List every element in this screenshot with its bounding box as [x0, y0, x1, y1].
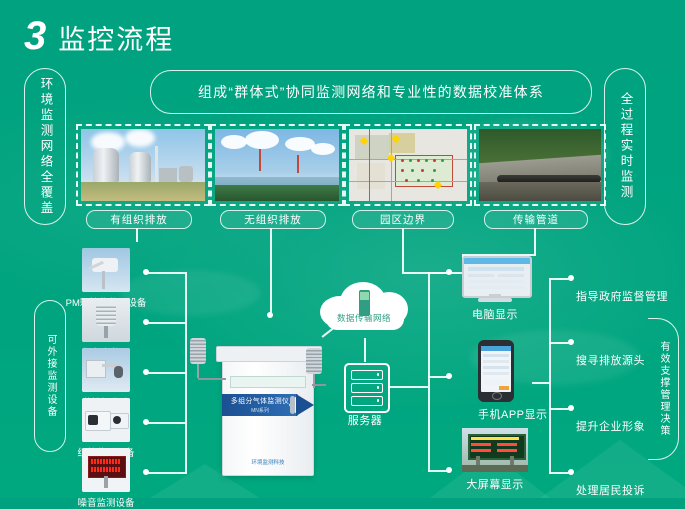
sensor-cable — [198, 378, 226, 380]
photo-cooling-towers — [81, 129, 205, 201]
connector-bus — [428, 272, 430, 472]
connector-node — [143, 269, 149, 275]
noise-monitor-icon — [82, 448, 130, 492]
pm-sensor-icon — [82, 248, 130, 292]
section-title: 监控流程 — [58, 18, 174, 57]
connector-line — [146, 422, 186, 424]
photo-pipeline — [479, 129, 601, 201]
connector-node — [446, 467, 452, 473]
label-realtime-monitoring: 全过程实时监测 — [604, 68, 646, 225]
connector-line — [402, 228, 404, 272]
cctv-camera-icon — [82, 348, 130, 392]
connector-node — [143, 369, 149, 375]
connector-line — [388, 386, 428, 388]
label-external-devices: 可外接监测设备 — [34, 300, 66, 452]
infographic-canvas: 3 监控流程 组成“群体式”协同监测网络和专业性的数据校准体系 环境监测网络全覆… — [0, 0, 685, 498]
connector-node — [568, 469, 574, 475]
label-decision-support-text: 有效支撑管理决策 — [657, 341, 669, 437]
connector-node — [568, 405, 574, 411]
headline-banner: 组成“群体式”协同监测网络和专业性的数据校准体系 — [150, 70, 592, 114]
weather-station-icon — [82, 298, 130, 342]
connector-line — [270, 228, 272, 314]
connector-line — [136, 228, 138, 242]
cloud-label: 数据传输网络 — [316, 312, 412, 324]
smartphone-icon — [478, 340, 514, 402]
connector-node — [143, 319, 149, 325]
connector-node — [568, 339, 574, 345]
connector-line — [146, 372, 186, 374]
connector-bus — [549, 278, 551, 474]
cabinet-title: 多组分气体监测仪 — [231, 396, 289, 406]
cabinet-sensor-left — [190, 338, 206, 378]
connector-node — [267, 312, 273, 318]
connector-line — [146, 472, 186, 474]
device-item-4[interactable]: 噪音监测设备 — [82, 448, 130, 492]
outcome-item-1: 搜寻排放源头 — [576, 352, 645, 368]
outcome-item-3: 处理居民投诉 — [576, 482, 645, 498]
outcome-item-0: 指导政府监督管理 — [576, 288, 668, 304]
sensor-cable — [312, 384, 326, 386]
device-item-1[interactable]: 气象参数仪 — [82, 298, 130, 342]
output-label-1: 手机APP显示 — [478, 406, 514, 422]
cabinet-sensor-right — [306, 348, 322, 388]
photo-card-park-boundary — [344, 124, 472, 206]
connector-line — [146, 272, 186, 274]
server-label: 服务器 — [330, 412, 400, 428]
background-blob — [120, 270, 260, 316]
device-item-3[interactable]: 红外监测设备 — [82, 398, 130, 442]
photo-caption-0: 有组织排放 — [86, 210, 192, 229]
connector-line — [146, 322, 186, 324]
device-label-4: 噪音监测设备 — [77, 495, 134, 509]
photo-card-transport-pipe — [474, 124, 606, 206]
gas-monitor-cabinet[interactable]: 多组分气体监测仪 MN系列 环境监测科技 — [222, 358, 314, 476]
cabinet-nameplate: 多组分气体监测仪 MN系列 — [222, 394, 298, 416]
photo-card-organized-emission — [76, 124, 210, 206]
output-item-2[interactable]: 大屏幕显示 — [462, 428, 528, 492]
section-number: 3 — [24, 16, 46, 56]
server-node[interactable] — [344, 363, 386, 409]
label-decision-support: 有效支撑管理决策 — [648, 318, 679, 460]
device-item-0[interactable]: PM颗粒物监测设备 — [82, 248, 130, 292]
output-label-0: 电脑显示 — [462, 306, 528, 322]
label-realtime-monitoring-text: 全过程实时监测 — [618, 92, 633, 201]
device-item-2[interactable]: 监控摄像头 — [82, 348, 130, 392]
connector-node — [143, 419, 149, 425]
infrared-device-icon — [82, 398, 130, 442]
page-title: 3 监控流程 — [24, 16, 174, 57]
cabinet-handle[interactable] — [290, 396, 295, 414]
connector-node — [446, 269, 452, 275]
desktop-monitor-icon — [462, 256, 528, 302]
photo-zone-map — [349, 129, 467, 201]
output-item-0[interactable]: 电脑显示 — [462, 256, 528, 322]
photo-industrial-skyline — [215, 129, 339, 201]
label-external-devices-text: 可外接监测设备 — [44, 334, 56, 418]
led-billboard-icon — [462, 428, 528, 472]
label-network-coverage-text: 环境监测网络全覆盖 — [38, 77, 53, 217]
label-network-coverage: 环境监测网络全覆盖 — [24, 68, 66, 225]
connector-node — [446, 373, 452, 379]
connector-line — [534, 228, 536, 254]
output-item-1[interactable]: 手机APP显示 — [478, 340, 514, 422]
output-label-2: 大屏幕显示 — [462, 476, 528, 492]
photo-card-unorganized-emission — [210, 124, 344, 206]
cabinet-brand: 环境监测科技 — [222, 458, 314, 466]
photo-caption-3: 传输管道 — [484, 210, 588, 229]
photo-caption-1: 无组织排放 — [220, 210, 326, 229]
data-network-cloud: 数据传输网络 — [316, 278, 412, 338]
connector-line — [532, 382, 550, 384]
headline-banner-text: 组成“群体式”协同监测网络和专业性的数据校准体系 — [198, 82, 544, 102]
connector-node — [568, 275, 574, 281]
connector-bus — [185, 272, 187, 474]
connector-line — [364, 338, 366, 362]
connector-node — [143, 469, 149, 475]
cabinet-series: MN系列 — [251, 407, 269, 414]
photo-caption-2: 园区边界 — [352, 210, 454, 229]
outcome-item-2: 提升企业形象 — [576, 418, 645, 434]
